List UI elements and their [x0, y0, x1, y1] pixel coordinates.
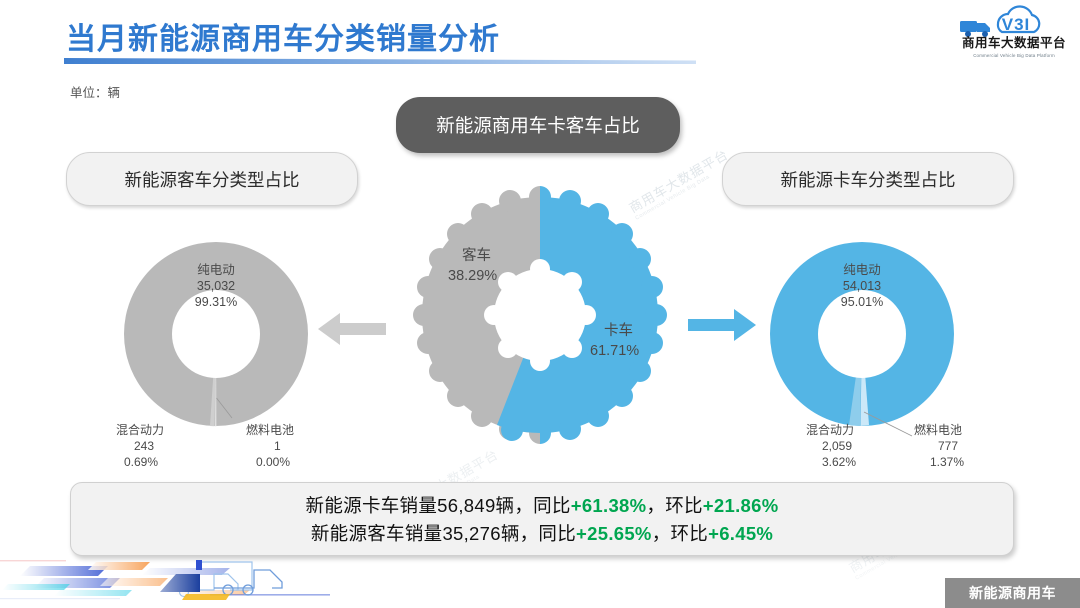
brand-logo: V3I 商用车大数据平台 Commercial Vehicle Big Data… — [954, 4, 1074, 58]
summary-line-bus-prefix: 新能源客车销量35,276辆，同比 — [311, 523, 576, 544]
summary-line-bus: 新能源客车销量35,276辆，同比+25.65%，环比+6.45% — [311, 520, 773, 546]
page-title: 当月新能源商用车分类销量分析 — [66, 14, 500, 58]
truck-label-hybrid-count: 2,059 — [822, 439, 852, 453]
bus-label-hybrid-percent: 0.69% — [124, 455, 158, 469]
bus-label-fuelcell-name: 燃料电池 — [246, 422, 294, 437]
summary-box: 新能源卡车销量56,849辆，同比+61.38%，环比+21.86% 新能源客车… — [70, 482, 1014, 556]
bus-label-fuelcell-count: 1 — [274, 439, 281, 453]
summary-line-truck: 新能源卡车销量56,849辆，同比+61.38%，环比+21.86% — [306, 492, 779, 518]
footer-badge-label: 新能源商用车 — [969, 583, 1056, 603]
truck-label-fuelcell-count: 777 — [938, 439, 958, 453]
bus-label-bev-percent: 99.31% — [195, 295, 237, 309]
chart-center-bus-truck-share: 客车 38.29% 卡车 61.71% — [400, 165, 680, 465]
summary-line-truck-mom: +21.86% — [703, 495, 779, 516]
arrow-left-icon — [316, 312, 386, 351]
panel-title-bus: 新能源客车分类型占比 — [66, 152, 358, 206]
title-underline — [64, 58, 696, 64]
summary-line-truck-yoy: +61.38% — [571, 495, 647, 516]
chart-truck-powertrain: 纯电动 54,013 95.01% 混合动力 2,059 3.62% 燃料电池 … — [742, 222, 992, 472]
bus-label-bev-count: 35,032 — [197, 279, 235, 293]
panel-title-center: 新能源商用车卡客车占比 — [396, 97, 680, 153]
panel-title-bus-label: 新能源客车分类型占比 — [125, 167, 300, 192]
summary-line-bus-middle: ，环比 — [652, 523, 708, 544]
footer-truck-graphic — [0, 548, 430, 608]
truck-label-bev-name: 纯电动 — [843, 263, 881, 277]
summary-line-bus-mom: +6.45% — [708, 523, 773, 544]
bus-label-hybrid-count: 243 — [134, 439, 154, 453]
logo-name-en: Commercial Vehicle Big Data Platform — [954, 53, 1074, 58]
panel-title-truck-label: 新能源卡车分类型占比 — [781, 167, 956, 192]
summary-line-bus-yoy: +25.65% — [576, 523, 652, 544]
truck-label-fuelcell-name: 燃料电池 — [914, 422, 962, 437]
truck-label-fuelcell-percent: 1.37% — [930, 455, 964, 469]
logo-name-cn: 商用车大数据平台 — [954, 32, 1074, 51]
unit-label: 单位：辆 — [70, 82, 120, 101]
footer-badge: 新能源商用车 — [945, 578, 1080, 608]
summary-line-truck-middle: ，环比 — [646, 495, 702, 516]
truck-label-bev-percent: 95.01% — [841, 295, 883, 309]
slide-canvas: 商用车大数据平台 Commercial Vehicle Big Data 商用车… — [0, 0, 1080, 608]
summary-line-truck-prefix: 新能源卡车销量56,849辆，同比 — [306, 495, 571, 516]
center-label-truck-value: 61.71% — [590, 343, 639, 359]
truck-label-hybrid-name: 混合动力 — [806, 422, 854, 437]
truck-label-hybrid-percent: 3.62% — [822, 455, 856, 469]
bus-label-fuelcell-percent: 0.00% — [256, 455, 290, 469]
arrow-right-icon — [688, 308, 758, 347]
truck-label-bev-count: 54,013 — [843, 279, 881, 293]
center-label-bus-value: 38.29% — [448, 268, 497, 284]
center-label-truck-name: 卡车 — [604, 322, 633, 339]
center-label-bus-name: 客车 — [462, 247, 491, 264]
bus-label-bev-name: 纯电动 — [197, 263, 235, 277]
bus-label-hybrid-name: 混合动力 — [116, 422, 164, 437]
chart-bus-powertrain: 纯电动 35,032 99.31% 混合动力 243 0.69% 燃料电池 1 … — [98, 222, 348, 472]
panel-title-truck: 新能源卡车分类型占比 — [722, 152, 1014, 206]
panel-title-center-label: 新能源商用车卡客车占比 — [436, 112, 640, 138]
